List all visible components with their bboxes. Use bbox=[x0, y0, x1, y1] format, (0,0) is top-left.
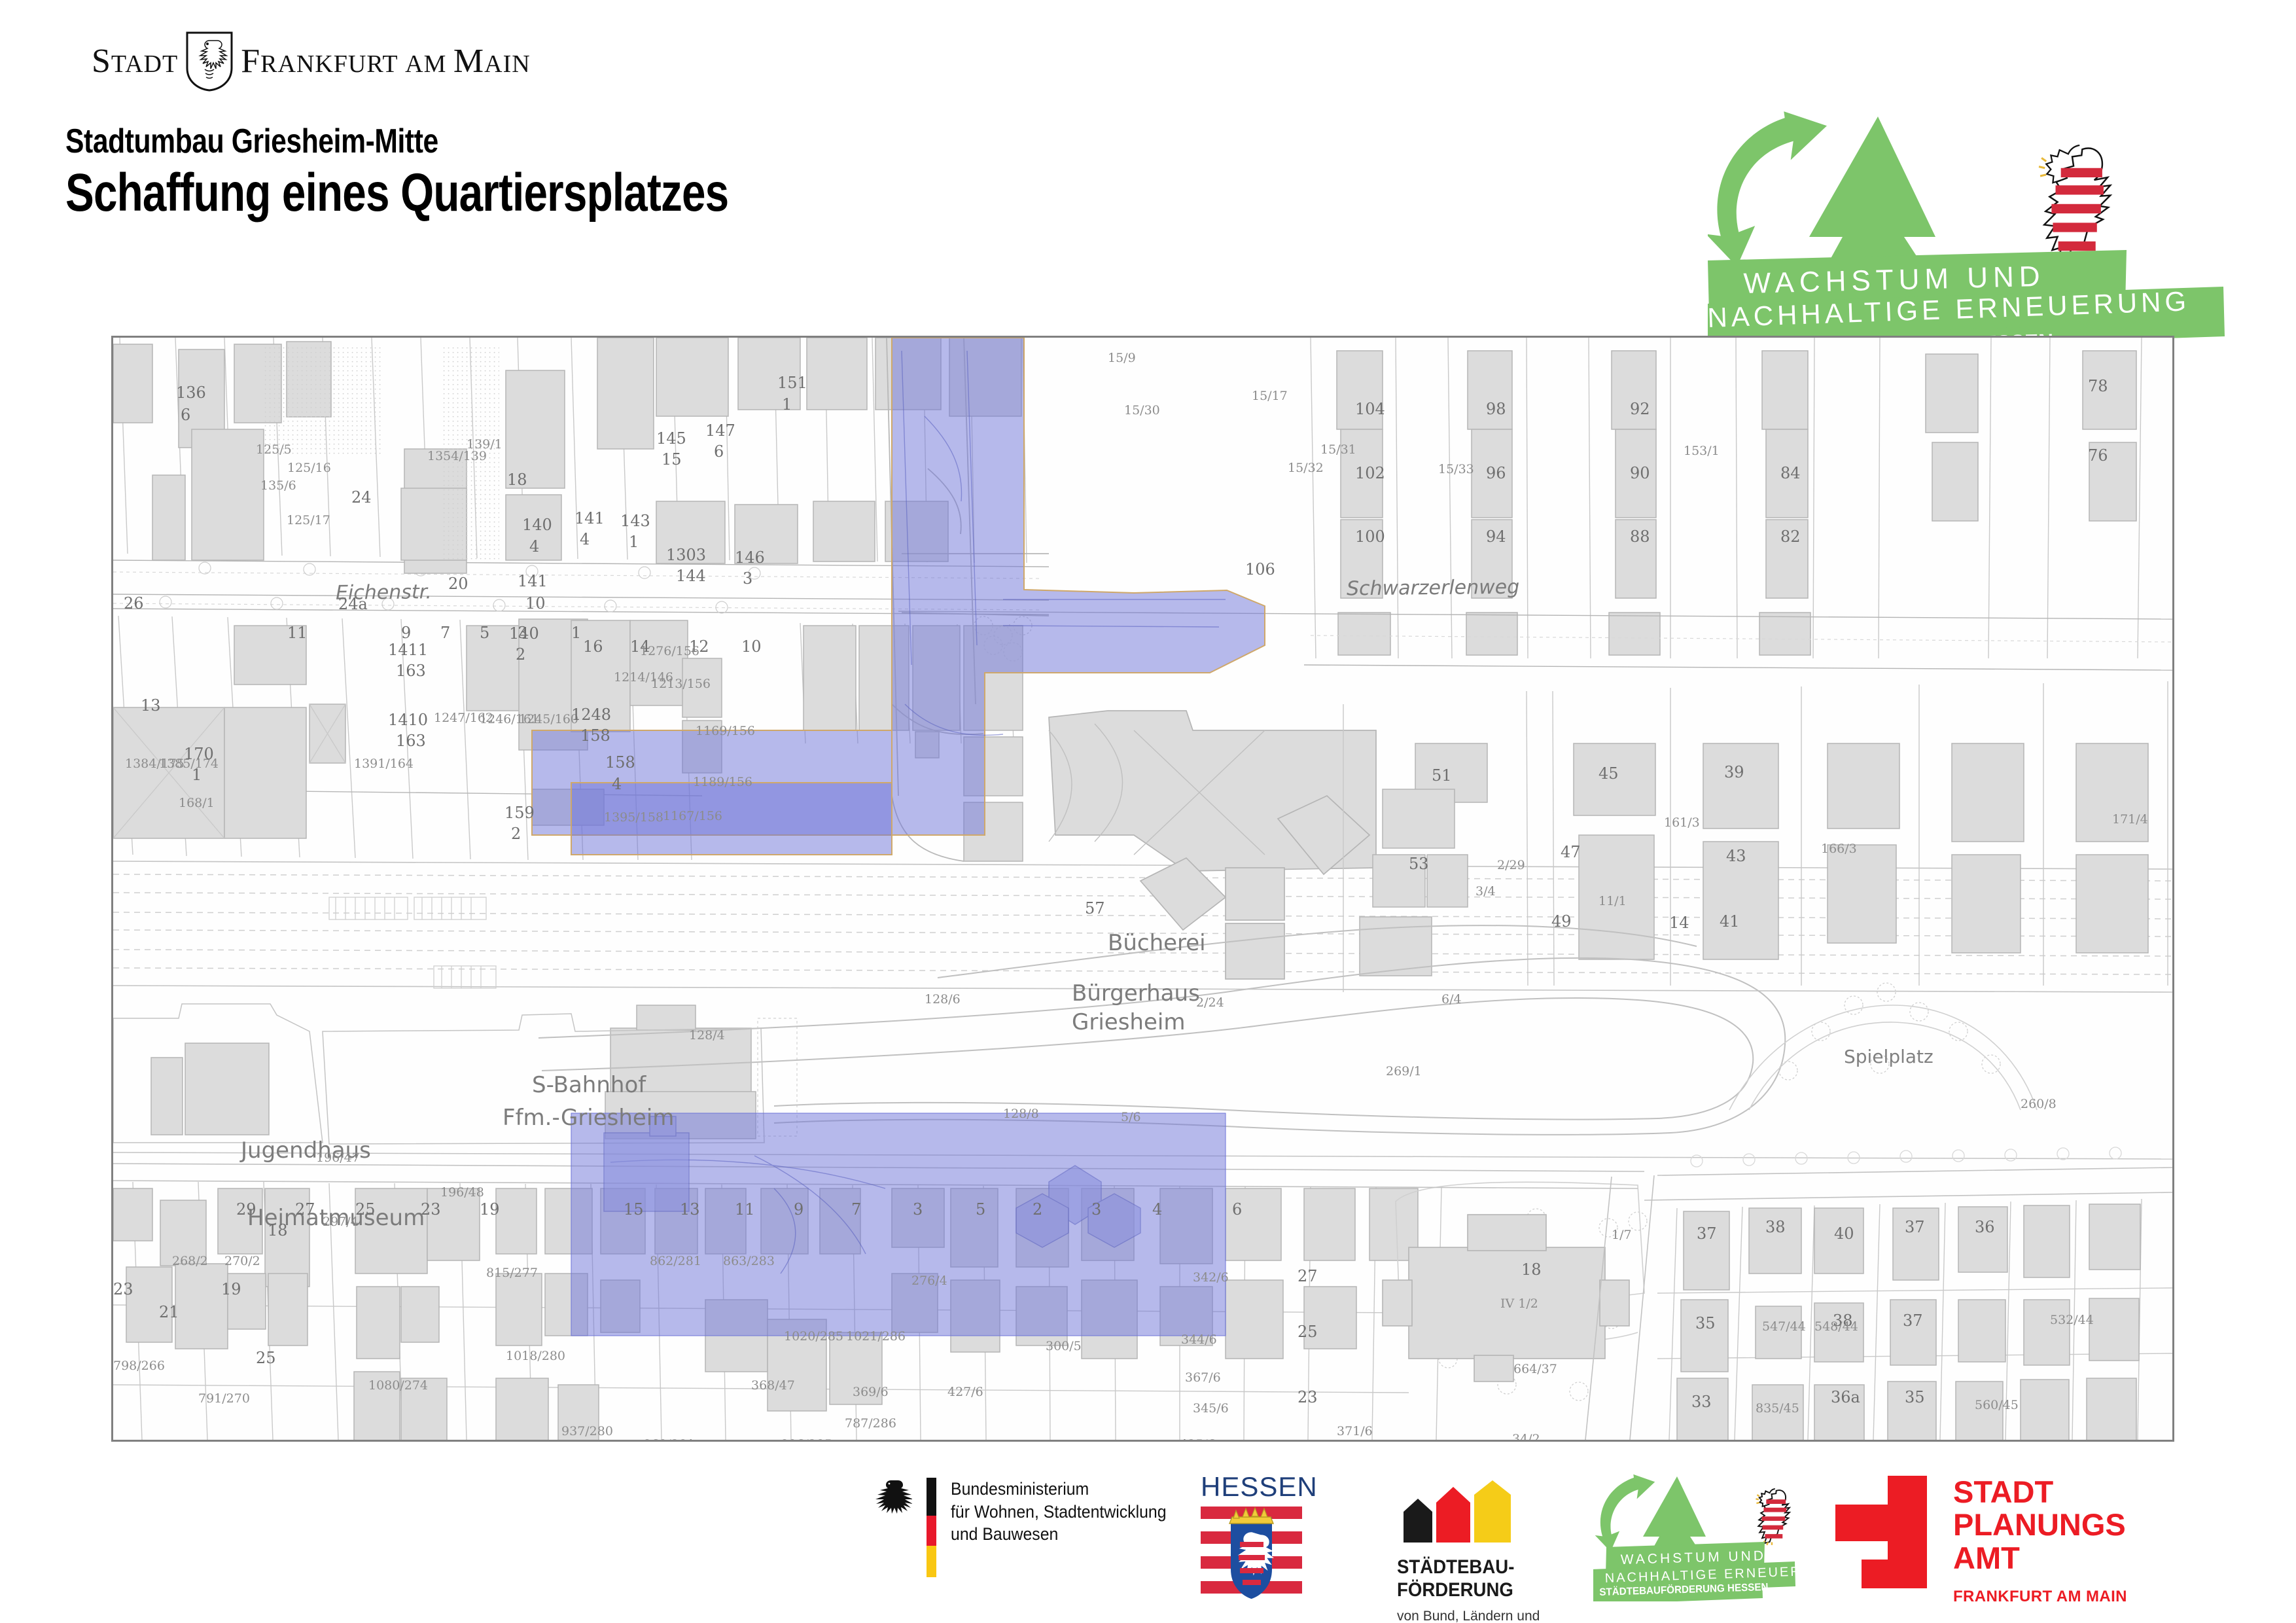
stadtplanungsamt-line1: STADT bbox=[1953, 1476, 2127, 1508]
staedtebau-line2: FÖRDERUNG bbox=[1397, 1579, 1528, 1602]
city-logo-frankfurt-am-main: FRANKFURT AM MAIN bbox=[241, 45, 530, 79]
recycle-arrow-icon bbox=[1593, 1474, 1664, 1554]
stadtplanungsamt-line2: PLANUNGS bbox=[1953, 1508, 2127, 1541]
city-logo: STADT FRANKFURT AM MAIN bbox=[92, 31, 531, 92]
bmwsb-logo: Bundesministerium für Wohnen, Stadtentwi… bbox=[870, 1478, 1185, 1580]
stadtplanungsamt-line3: AMT bbox=[1953, 1542, 2127, 1575]
wachstum-erneuerung-logo: WACHSTUM UND NACHHALTIGE ERNEUERUNG STÄD… bbox=[1708, 111, 2251, 366]
hessen-lion-icon bbox=[1756, 1489, 1789, 1545]
staedtebau-sub1: von Bund, Ländern und bbox=[1397, 1608, 1540, 1623]
subtitle: Stadtumbau Griesheim-Mitte bbox=[65, 122, 438, 161]
cadastral-map[interactable]: Eichenstr. Schwarzerlenweg Erzbergerstr.… bbox=[113, 338, 2172, 1440]
wachstum-erneuerung-logo-footer: WACHSTUM UND NACHHALTIGE ERNEUERUNG STÄD… bbox=[1593, 1474, 1822, 1601]
bmwsb-line2: für Wohnen, Stadtentwicklung bbox=[951, 1501, 1167, 1524]
city-logo-stadt: STADT bbox=[92, 45, 178, 79]
map-vector-layer bbox=[113, 338, 2172, 1440]
stadtplanungsamt-sub: FRANKFURT AM MAIN bbox=[1953, 1588, 2127, 1606]
three-houses-icon bbox=[1397, 1480, 1540, 1546]
page-header: STADT FRANKFURT AM MAIN Stadtumbau Gries… bbox=[0, 0, 2296, 327]
bmwsb-line1: Bundesministerium bbox=[951, 1478, 1167, 1501]
staedtebaufoerderung-logo: STÄDTEBAU- FÖRDERUNG von Bund, Ländern u… bbox=[1397, 1480, 1540, 1623]
hessen-wordmark: HESSEN bbox=[1201, 1471, 1318, 1503]
map-frame[interactable]: Eichenstr. Schwarzerlenweg Erzbergerstr.… bbox=[111, 336, 2174, 1442]
german-flag-bar-icon bbox=[927, 1478, 936, 1580]
quartiersplatz-west-arm2 bbox=[571, 783, 892, 855]
hessen-logo: HESSEN bbox=[1201, 1471, 1318, 1608]
staedtebau-line1: STÄDTEBAU- bbox=[1397, 1556, 1528, 1579]
hessen-coat-of-arms-icon bbox=[1201, 1507, 1318, 1608]
frankfurt-eagle-crest-icon bbox=[185, 31, 234, 92]
stadtplanungsamt-mark-icon bbox=[1835, 1476, 1927, 1592]
page-footer: Bundesministerium für Wohnen, Stadtentwi… bbox=[0, 1459, 2296, 1623]
stadtplanungsamt-logo: STADT PLANUNGS AMT FRANKFURT AM MAIN bbox=[1835, 1476, 2127, 1606]
page-title: Schaffung eines Quartiersplatzes bbox=[65, 162, 728, 224]
house-number: 21 bbox=[1299, 1440, 1319, 1442]
hessen-lion-icon bbox=[2039, 145, 2110, 265]
bundesadler-icon bbox=[870, 1478, 912, 1527]
recycle-arrow-icon bbox=[1708, 111, 1845, 270]
bmwsb-line3: und Bauwesen bbox=[951, 1523, 1167, 1546]
